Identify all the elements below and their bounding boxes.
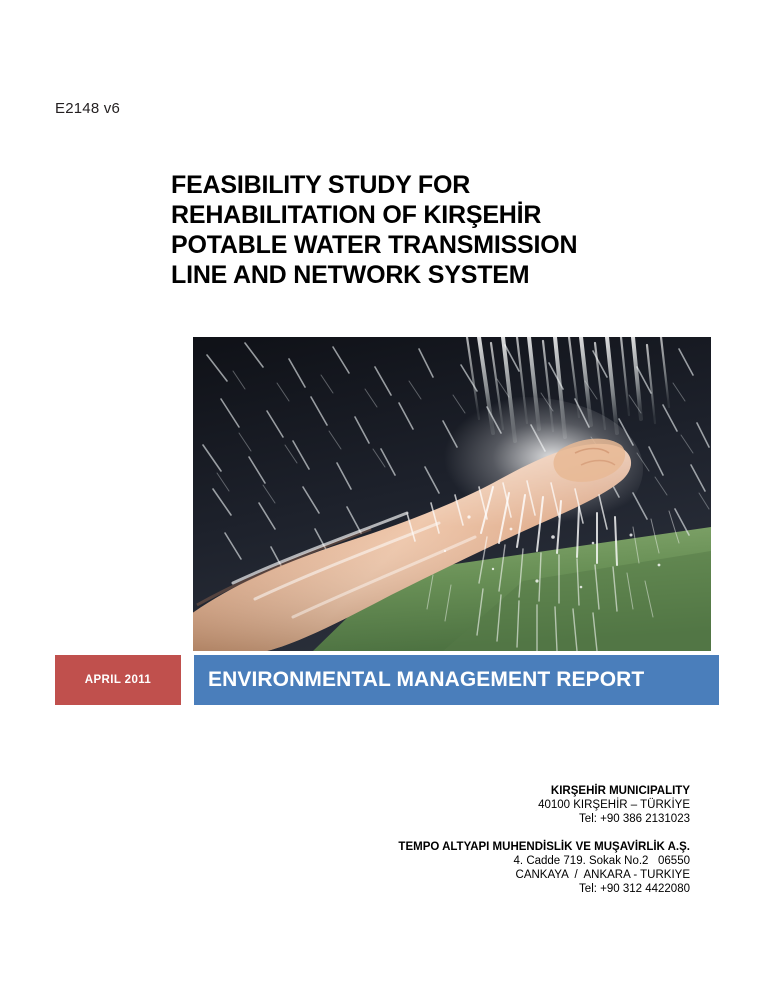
cover-banner: APRIL 2011 ENVIRONMENTAL MANAGEMENT REPO… (55, 655, 719, 705)
consultant-phone: Tel: +90 312 4422080 (340, 882, 690, 896)
title-line-4: LINE AND NETWORK SYSTEM (171, 260, 691, 290)
consultant-name: TEMPO ALTYAPI MUHENDİSLİK VE MUŞAVİRLİK … (340, 840, 690, 854)
document-number: E2148 v6 (55, 100, 120, 117)
banner-title-label: ENVIRONMENTAL MANAGEMENT REPORT (194, 668, 644, 692)
contact-group-consultant: TEMPO ALTYAPI MUHENDİSLİK VE MUŞAVİRLİK … (340, 840, 690, 896)
municipality-address: 40100 KIRŞEHİR – TÜRKİYE (340, 798, 690, 812)
contact-group-municipality: KIRŞEHİR MUNICIPALITY 40100 KIRŞEHİR – T… (340, 784, 690, 826)
page-title: FEASIBILITY STUDY FOR REHABILITATION OF … (171, 170, 691, 290)
banner-title-box: ENVIRONMENTAL MANAGEMENT REPORT (194, 655, 719, 705)
consultant-address-street: 4. Cadde 719. Sokak No.2 06550 (340, 854, 690, 868)
cover-photo-illustration (193, 337, 711, 651)
consultant-address-city: CANKAYA / ANKARA - TURKIYE (340, 868, 690, 882)
footer-contacts: KIRŞEHİR MUNICIPALITY 40100 KIRŞEHİR – T… (340, 784, 690, 896)
title-line-2: REHABILITATION OF KIRŞEHİR (171, 200, 691, 230)
banner-date-box: APRIL 2011 (55, 655, 181, 705)
title-line-1: FEASIBILITY STUDY FOR (171, 170, 691, 200)
title-line-3: POTABLE WATER TRANSMISSION (171, 230, 691, 260)
cover-photo (193, 337, 711, 651)
municipality-phone: Tel: +90 386 2131023 (340, 812, 690, 826)
municipality-name: KIRŞEHİR MUNICIPALITY (340, 784, 690, 798)
banner-date-label: APRIL 2011 (85, 674, 151, 686)
